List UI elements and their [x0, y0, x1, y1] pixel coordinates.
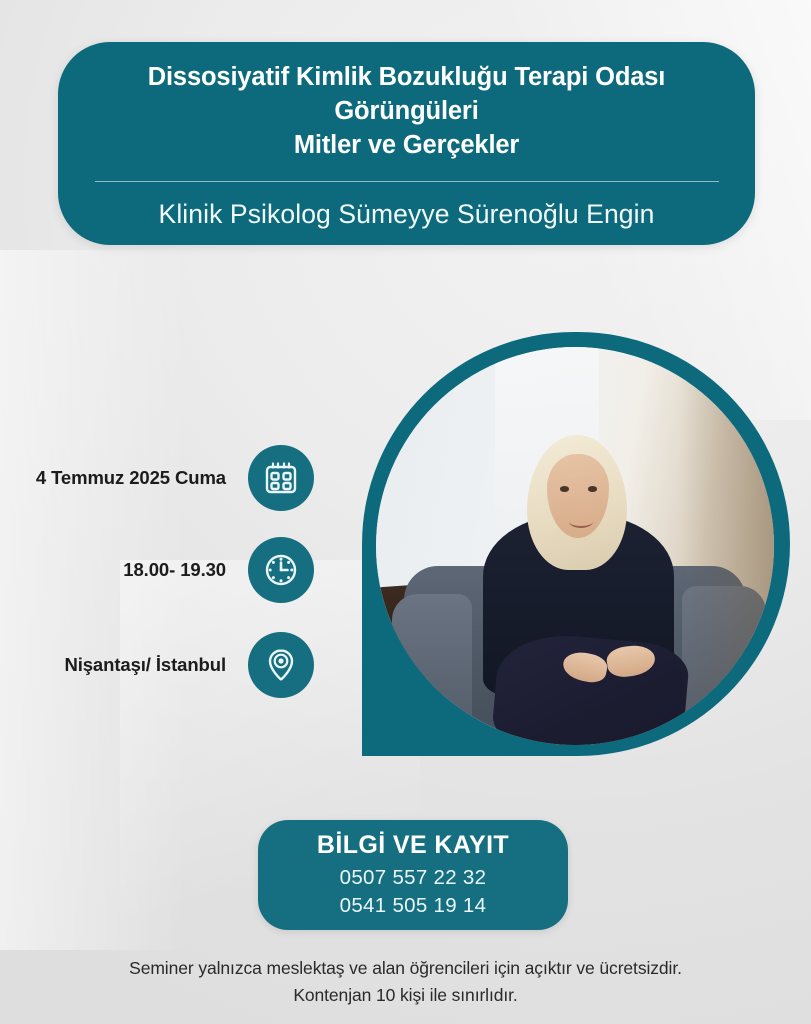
event-time-label: 18.00- 19.30 [123, 559, 226, 581]
contact-title: BİLGİ VE KAYIT [317, 831, 509, 860]
header-card: Dissosiyatif Kimlik Bozukluğu Terapi Oda… [58, 42, 755, 245]
event-location-label: Nişantaşı/ İstanbul [64, 654, 226, 676]
footer-note: Seminer yalnızca meslektaş ve alan öğren… [0, 955, 811, 1009]
info-row-time: 18.00- 19.30 [24, 537, 314, 603]
info-row-date: 4 Temmuz 2025 Cuma [24, 445, 314, 511]
location-pin-icon [248, 632, 314, 698]
calendar-icon [248, 445, 314, 511]
speaker-photo [376, 347, 774, 745]
contact-phone-1[interactable]: 0507 557 22 32 [340, 864, 487, 891]
poster-title: Dissosiyatif Kimlik Bozukluğu Terapi Oda… [98, 57, 715, 163]
event-date-label: 4 Temmuz 2025 Cuma [36, 467, 226, 489]
clock-icon [248, 537, 314, 603]
contact-card[interactable]: BİLGİ VE KAYIT 0507 557 22 32 0541 505 1… [258, 820, 568, 930]
seminar-poster: Dissosiyatif Kimlik Bozukluğu Terapi Oda… [0, 0, 811, 1024]
speaker-name: Klinik Psikolog Sümeyye Sürenoğlu Engin [159, 182, 655, 230]
speaker-photo-block [360, 332, 790, 756]
contact-phone-2[interactable]: 0541 505 19 14 [340, 892, 487, 919]
info-row-location: Nişantaşı/ İstanbul [24, 632, 314, 698]
